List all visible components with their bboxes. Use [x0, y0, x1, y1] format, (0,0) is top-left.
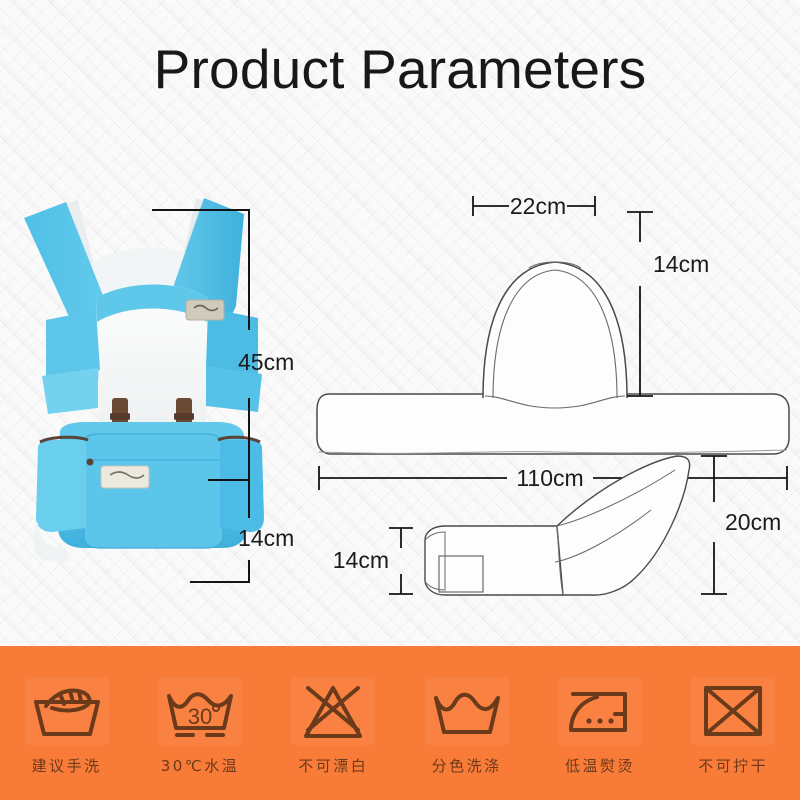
care-item-do-not-wring: 不可拧干 [670, 671, 796, 776]
do-not-wring-icon [691, 677, 775, 745]
buckle-left-bar [110, 413, 130, 420]
wash-separately-icon [425, 677, 509, 745]
zipper-pull [87, 459, 94, 466]
care-item-no-bleach: 不可漂白 [270, 671, 396, 776]
product-photo: 45cm 14cm [0, 170, 300, 620]
care-item-wash-30: 30 30℃水温 [137, 671, 263, 776]
seat-pouch-right [220, 440, 264, 532]
svg-text:30: 30 [188, 704, 212, 729]
waist-belt-diagram: 22cm 14cm [317, 193, 789, 491]
dimension-label-22cm: 22cm [510, 193, 566, 219]
care-label-wash-30: 30℃水温 [161, 755, 239, 776]
dimension-label-110cm: 110cm [516, 465, 583, 491]
care-item-wash-separately: 分色洗涤 [404, 671, 530, 776]
parameters-content: 45cm 14cm [0, 150, 800, 650]
care-label-hand-wash: 建议手洗 [32, 755, 102, 776]
hip-seat-pocket [84, 434, 223, 548]
buckle-right-bar [174, 413, 194, 420]
care-item-hand-wash: 建议手洗 [4, 671, 130, 776]
arch-outer [483, 262, 627, 398]
dimension-label-14cm: 14cm [238, 525, 294, 551]
dimension-label-14cm-seat: 14cm [333, 547, 389, 573]
technical-diagrams: 22cm 14cm [305, 170, 800, 610]
dimension-label-45cm: 45cm [238, 349, 294, 375]
seat-pouch-left [36, 440, 86, 532]
care-label-wash-separately: 分色洗涤 [432, 755, 502, 776]
belt-outline [317, 394, 789, 454]
dim-14cm-seat-lines [389, 528, 413, 594]
care-label-no-bleach: 不可漂白 [298, 755, 368, 776]
wash-30-degree-icon: 30 [158, 677, 242, 745]
dimension-label-14cm-arch: 14cm [653, 251, 709, 277]
side-flap-left [42, 368, 98, 414]
product-parameters-page: Product Parameters [0, 0, 800, 800]
dim-14cm-arch-lines [627, 212, 653, 396]
care-label-do-not-wring: 不可拧干 [698, 755, 768, 776]
hand-wash-icon [25, 677, 109, 745]
low-iron-icon [558, 677, 642, 745]
page-title: Product Parameters [0, 36, 800, 102]
seat-block-outline [425, 526, 563, 595]
carrier-illustration [24, 198, 264, 562]
dim-20cm-lines [701, 456, 727, 594]
care-item-low-iron: 低温熨烫 [537, 671, 663, 776]
care-instructions-banner: 建议手洗 30 30℃水温 [0, 646, 800, 800]
care-label-low-iron: 低温熨烫 [565, 755, 635, 776]
no-bleach-icon [291, 677, 375, 745]
dimension-label-20cm: 20cm [725, 509, 781, 535]
care-icons-row: 建议手洗 30 30℃水温 [0, 646, 800, 800]
brand-label-upper [186, 300, 224, 320]
